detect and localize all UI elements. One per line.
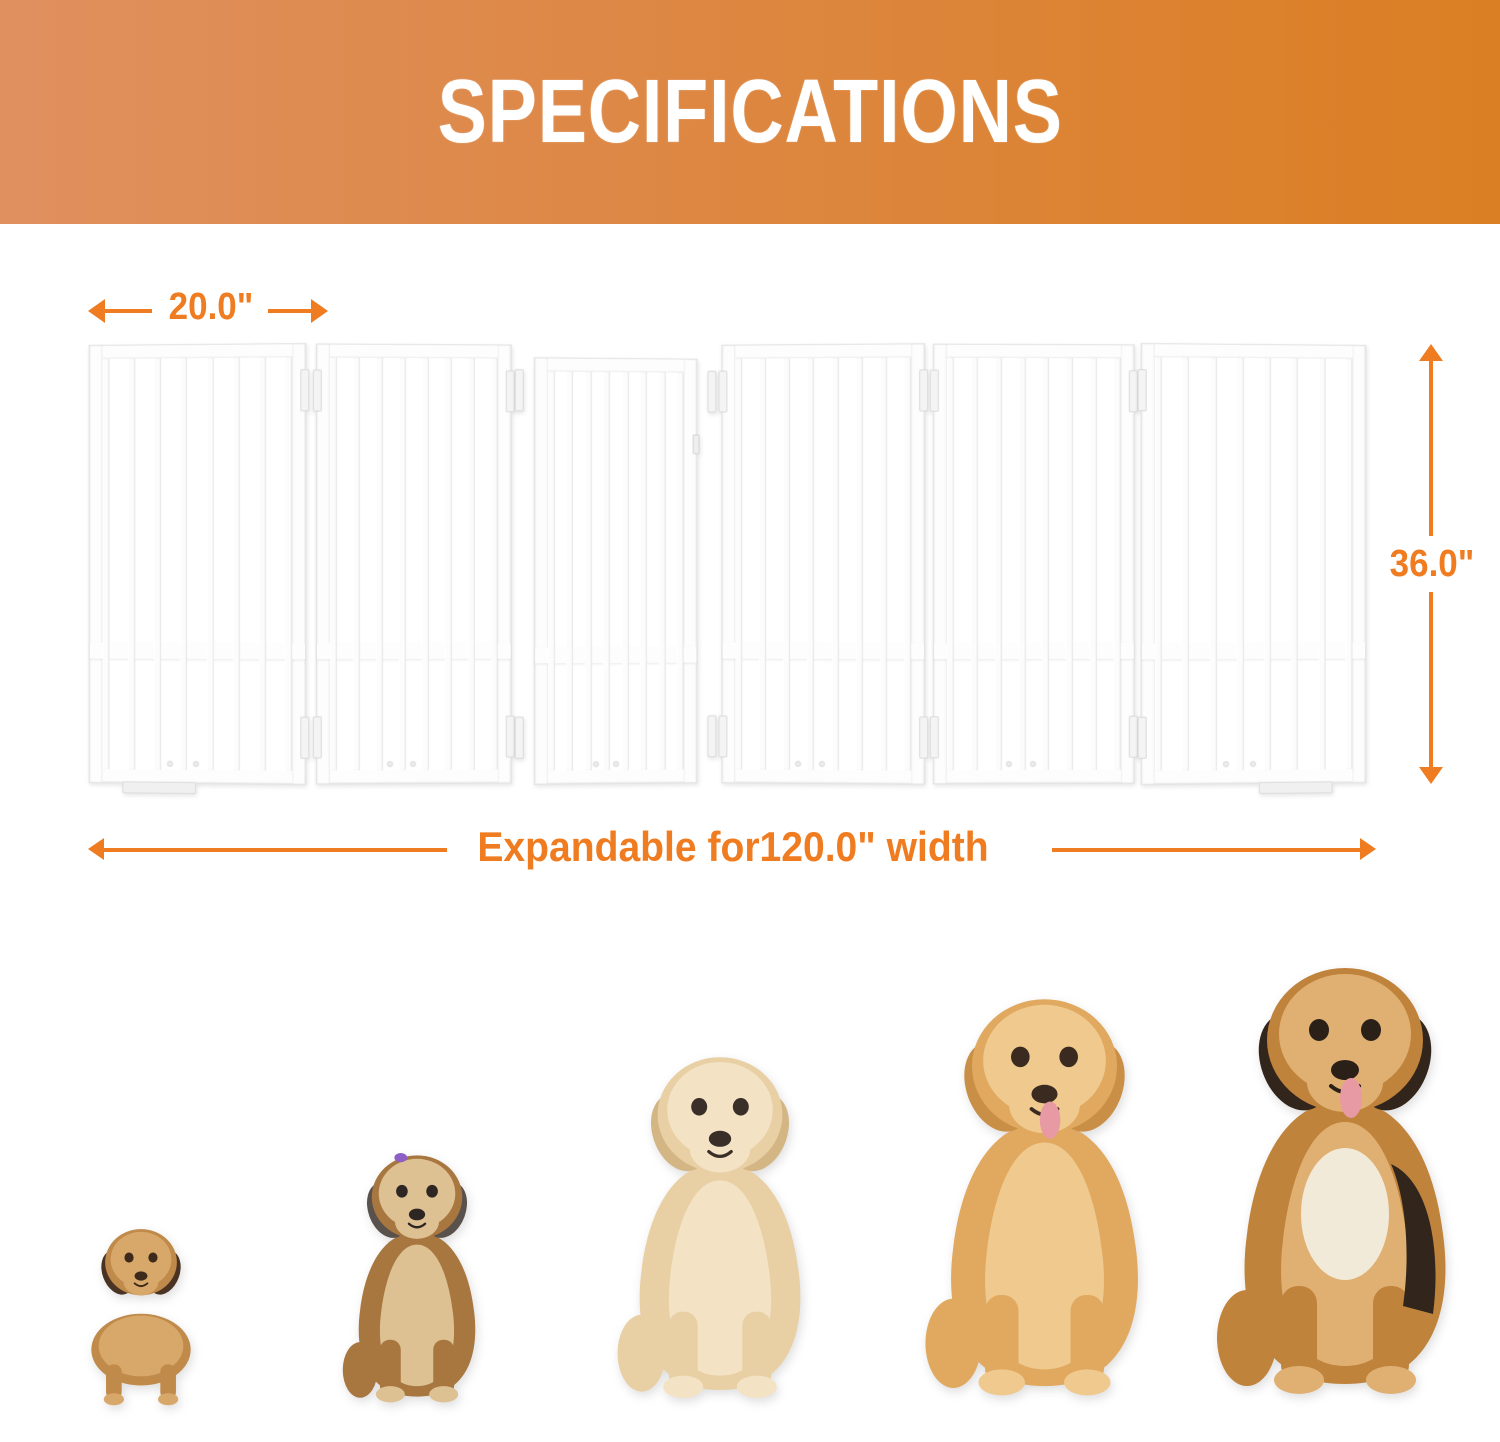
panel-slat <box>491 358 498 769</box>
panel-slat <box>233 358 240 771</box>
dimension-line-left <box>102 848 447 852</box>
panel-slat <box>947 358 954 771</box>
gate-panel-5 <box>933 344 1135 785</box>
hinge-icon <box>930 716 939 758</box>
door-latch-icon[interactable] <box>693 434 700 454</box>
gate-height-dimension: 36.0" <box>1408 344 1454 784</box>
pet-gate-diagram <box>78 344 1378 784</box>
panel-slat <box>856 358 863 771</box>
panel-slat <box>904 357 911 770</box>
panel-slat <box>677 372 684 769</box>
hinge-icon <box>718 715 727 757</box>
panel-width-label: 20.0" <box>153 286 269 329</box>
panel-slat <box>154 358 161 769</box>
panel-slat <box>783 358 790 770</box>
panel-slat <box>585 372 592 771</box>
panel-slats <box>1155 357 1353 771</box>
panel-slat <box>1237 358 1244 770</box>
panel-width-dimension: 20.0" <box>88 288 328 334</box>
panel-slat <box>207 358 214 770</box>
panel-slat <box>259 357 266 770</box>
gate-panel-4 <box>721 343 925 784</box>
panel-slat <box>1182 357 1189 770</box>
panel-slat <box>353 358 360 771</box>
panel-slat <box>1090 358 1097 770</box>
screw-icon <box>1006 761 1012 767</box>
panel-slat <box>1066 358 1073 770</box>
panel-slat <box>422 358 429 770</box>
screw-icon <box>795 761 801 767</box>
panel-slats <box>330 358 498 771</box>
panel-slat <box>1019 358 1026 770</box>
panel-right-stile <box>1352 346 1365 782</box>
panel-slat <box>807 358 814 770</box>
panel-slat <box>1155 357 1162 771</box>
total-width-label: Expandable for120.0" width <box>468 823 998 871</box>
panel-slat <box>1291 358 1298 769</box>
panel-slat <box>445 358 452 770</box>
dog-illustration-4 <box>905 949 1184 1414</box>
panel-slat <box>640 372 647 770</box>
panel-slat <box>566 372 573 771</box>
hinge-icon <box>1129 370 1138 412</box>
hinge-icon <box>718 371 727 413</box>
panel-right-stile <box>684 360 697 783</box>
panel-slat <box>759 358 766 769</box>
gate-foot-support <box>122 781 196 794</box>
hinge-icon <box>313 370 322 412</box>
panel-bottom-rail <box>722 769 924 783</box>
panel-slat <box>285 357 292 771</box>
dog-illustration-3 <box>600 1014 840 1414</box>
hinge-icon <box>300 717 309 759</box>
hinge-icon <box>300 369 309 411</box>
panel-top-rail <box>317 344 511 358</box>
panel-slat <box>735 359 742 770</box>
dimension-line-left <box>102 309 152 313</box>
panel-slat <box>330 358 337 771</box>
screw-icon <box>1223 761 1229 767</box>
panel-slat <box>180 358 187 770</box>
panel-slat <box>658 372 665 769</box>
dog-illustration-5 <box>1195 914 1495 1414</box>
dog-illustration-2 <box>330 1124 504 1414</box>
arrow-right-icon <box>1360 838 1376 860</box>
panel-top-rail <box>722 344 924 358</box>
page-title: SPECIFICATIONS <box>437 67 1062 157</box>
panel-slat <box>468 358 475 769</box>
panel-slat <box>603 372 610 770</box>
specifications-header-banner: SPECIFICATIONS <box>0 0 1500 224</box>
hinge-icon <box>506 716 515 758</box>
panel-slat <box>1318 359 1325 770</box>
panel-slat <box>1264 358 1271 770</box>
hinge-icon <box>1138 717 1147 759</box>
hinge-icon <box>919 716 928 758</box>
panel-bottom-rail <box>317 770 511 784</box>
gate-panel-2 <box>316 343 512 784</box>
panel-slats <box>103 357 293 771</box>
arrow-down-icon <box>1419 767 1443 784</box>
panel-slats <box>735 357 911 770</box>
dog-size-comparison-row <box>0 900 1500 1442</box>
hinge-icon <box>707 371 716 413</box>
panel-bottom-rail <box>535 769 697 783</box>
dimension-line-top <box>1429 358 1433 536</box>
hinge-icon <box>1138 369 1147 411</box>
panel-slat <box>376 358 383 770</box>
screw-icon <box>193 761 199 767</box>
panel-slat <box>548 371 555 770</box>
screw-icon <box>167 761 173 767</box>
panel-left-stile <box>90 346 103 782</box>
panel-left-stile <box>535 358 548 783</box>
total-width-dimension: Expandable for120.0" width <box>88 826 1376 874</box>
panel-slat <box>103 359 110 770</box>
hinge-icon <box>1129 716 1138 758</box>
panel-slat <box>971 358 978 770</box>
hinge-icon <box>515 717 524 759</box>
hinge-icon <box>707 715 716 757</box>
gate-foot-support <box>1259 781 1333 794</box>
panel-slat <box>1114 358 1121 769</box>
gate-height-label: 36.0" <box>1377 540 1487 589</box>
screw-icon <box>1030 761 1036 767</box>
panel-slats <box>548 371 684 770</box>
panel-slat <box>1345 359 1352 769</box>
gate-panel-1 <box>89 343 307 785</box>
dimension-line-bottom <box>1429 592 1433 770</box>
panel-slat <box>995 358 1002 770</box>
gate-panel-6 <box>1141 343 1367 785</box>
gate-door-panel[interactable] <box>518 343 714 785</box>
panel-slat <box>1210 358 1217 771</box>
panel-slat <box>399 358 406 770</box>
hinge-icon <box>506 370 515 412</box>
panel-top-rail <box>535 358 697 372</box>
panel-slat <box>880 358 887 771</box>
dimension-line-right <box>1052 848 1362 852</box>
hinge-icon <box>515 369 524 411</box>
panel-slat <box>832 358 839 770</box>
hinge-icon <box>313 716 322 758</box>
panel-bottom-rail <box>934 770 1134 784</box>
panel-slats <box>947 358 1121 771</box>
screw-icon <box>819 761 825 767</box>
panel-slat <box>622 372 629 770</box>
hinge-icon <box>919 369 928 411</box>
panel-slat <box>128 359 135 770</box>
panel-top-rail <box>934 345 1134 359</box>
dog-illustration-1 <box>72 1184 210 1414</box>
screw-icon <box>1250 761 1256 767</box>
screw-icon <box>613 761 619 767</box>
hinge-icon <box>930 370 939 412</box>
screw-icon <box>387 761 393 767</box>
panel-slat <box>1042 358 1049 770</box>
dimension-line-right <box>268 309 314 313</box>
arrow-right-icon <box>311 299 328 323</box>
